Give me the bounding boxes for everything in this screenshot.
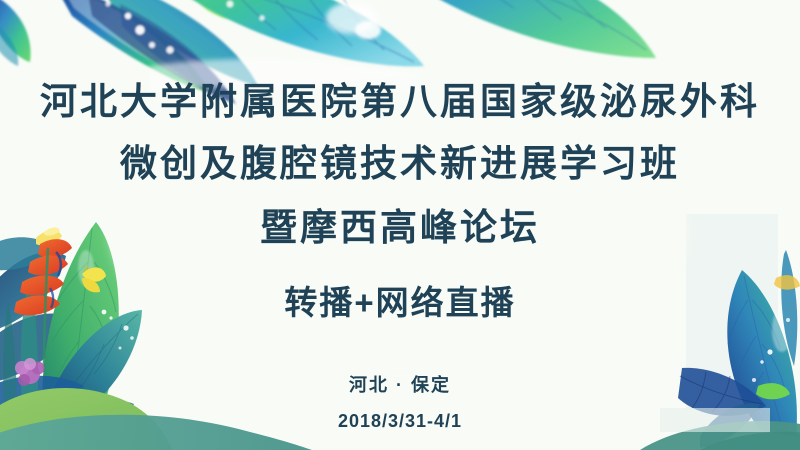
title-line-2: 微创及腹腔镜技术新进展学习班 [120,145,680,182]
poster-canvas: 河北大学附属医院第八届国家级泌尿外科 微创及腹腔镜技术新进展学习班 暨摩西高峰论… [0,0,800,450]
title-line-1: 河北大学附属医院第八届国家级泌尿外科 [40,83,760,120]
poster-text: 河北大学附属医院第八届国家级泌尿外科 微创及腹腔镜技术新进展学习班 暨摩西高峰论… [0,0,800,450]
title-line-3: 暨摩西高峰论坛 [260,209,540,246]
date-label: 2018/3/31-4/1 [338,412,462,430]
location-label: 河北 · 保定 [349,376,451,394]
broadcast-label: 转播+网络直播 [284,286,515,319]
